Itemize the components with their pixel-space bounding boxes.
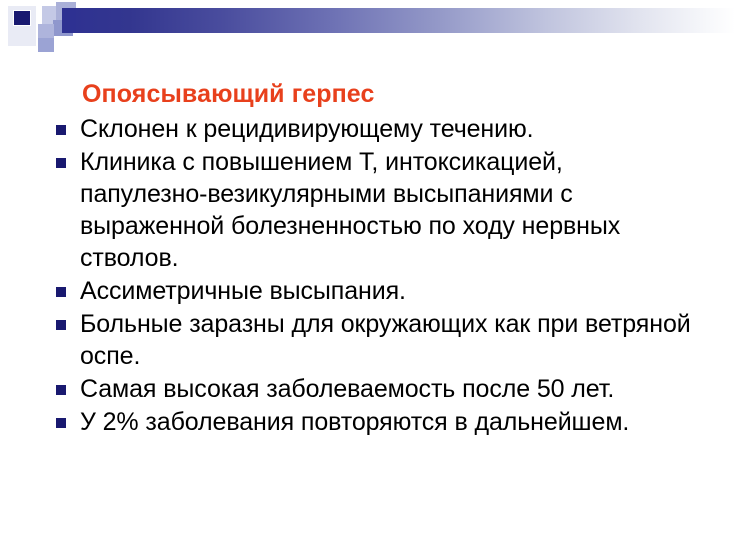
list-item-text: Клиника с повышением Т, интоксикацией, п… — [80, 146, 696, 274]
square-bullet-icon — [56, 287, 66, 297]
list-item: У 2% заболевания повторяются в дальнейше… — [56, 406, 696, 438]
slide-title: Опоясывающий герпес — [82, 80, 374, 109]
square-bullet-icon — [56, 418, 66, 428]
list-item: Ассиметричные высыпания. — [56, 275, 696, 307]
square-bullet-icon — [56, 125, 66, 135]
list-item-text: Склонен к рецидивирующему течению. — [80, 113, 696, 145]
list-item: Больные заразны для окружающих как при в… — [56, 308, 696, 372]
list-item: Склонен к рецидивирующему течению. — [56, 113, 696, 145]
list-item-text: Больные заразны для окружающих как при в… — [80, 308, 696, 372]
slide-canvas: Опоясывающий герпес Склонен к рецидивиру… — [0, 0, 735, 551]
decorative-square-medium-3 — [38, 38, 54, 52]
square-bullet-icon — [56, 385, 66, 395]
list-item-text: Ассиметричные высыпания. — [80, 275, 696, 307]
square-bullet-icon — [56, 158, 66, 168]
header-gradient-bar — [62, 8, 735, 33]
list-item-text: У 2% заболевания повторяются в дальнейше… — [80, 406, 696, 438]
header-decoration — [0, 0, 735, 60]
decorative-square-dark — [13, 10, 31, 26]
list-item: Самая высокая заболеваемость после 50 ле… — [56, 373, 696, 405]
header-bar-left-cap — [62, 8, 76, 33]
bullet-list: Склонен к рецидивирующему течению. Клини… — [56, 113, 696, 439]
square-bullet-icon — [56, 320, 66, 330]
list-item: Клиника с повышением Т, интоксикацией, п… — [56, 146, 696, 274]
list-item-text: Самая высокая заболеваемость после 50 ле… — [80, 373, 696, 405]
